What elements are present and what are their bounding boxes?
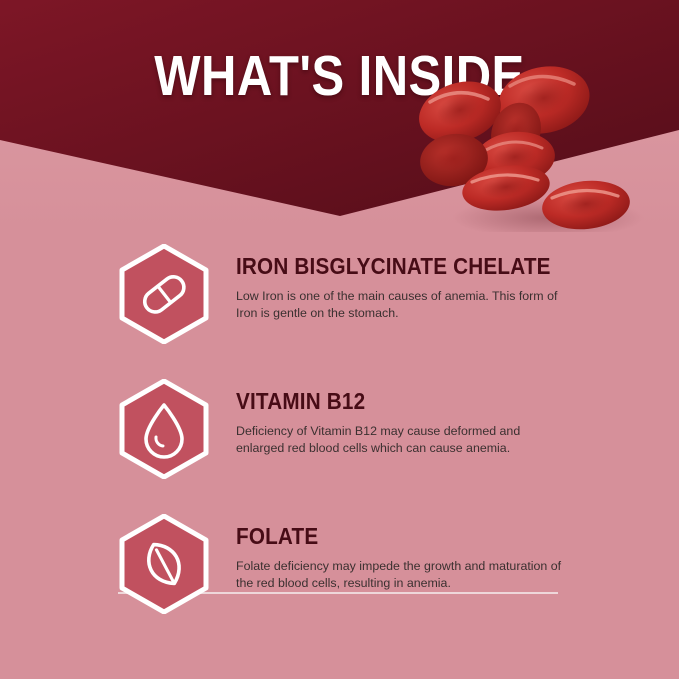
droplet-icon: [118, 379, 210, 479]
ingredient-description: Low Iron is one of the main causes of an…: [236, 288, 566, 322]
ingredient-list: IRON BISGLYCINATE CHELATE Low Iron is on…: [0, 232, 679, 641]
list-item: IRON BISGLYCINATE CHELATE Low Iron is on…: [0, 236, 679, 371]
list-item: FOLATE Folate deficiency may impede the …: [0, 506, 679, 641]
infographic-poster: WHAT'S INSIDE: [0, 0, 679, 679]
ingredient-title: VITAMIN B12: [236, 389, 542, 414]
ingredient-text: VITAMIN B12 Deficiency of Vitamin B12 ma…: [236, 389, 576, 457]
ingredient-text: FOLATE Folate deficiency may impede the …: [236, 524, 576, 592]
ingredient-title: IRON BISGLYCINATE CHELATE: [236, 254, 542, 279]
ingredient-text: IRON BISGLYCINATE CHELATE Low Iron is on…: [236, 254, 576, 322]
capsule-icon: [118, 244, 210, 344]
ingredient-title: FOLATE: [236, 524, 542, 549]
list-item: VITAMIN B12 Deficiency of Vitamin B12 ma…: [0, 371, 679, 506]
leaf-icon: [118, 514, 210, 614]
red-blood-cells-icon: [398, 60, 679, 232]
ingredient-description: Folate deficiency may impede the growth …: [236, 558, 566, 592]
ingredient-description: Deficiency of Vitamin B12 may cause defo…: [236, 423, 566, 457]
header-banner: WHAT'S INSIDE: [0, 0, 679, 232]
